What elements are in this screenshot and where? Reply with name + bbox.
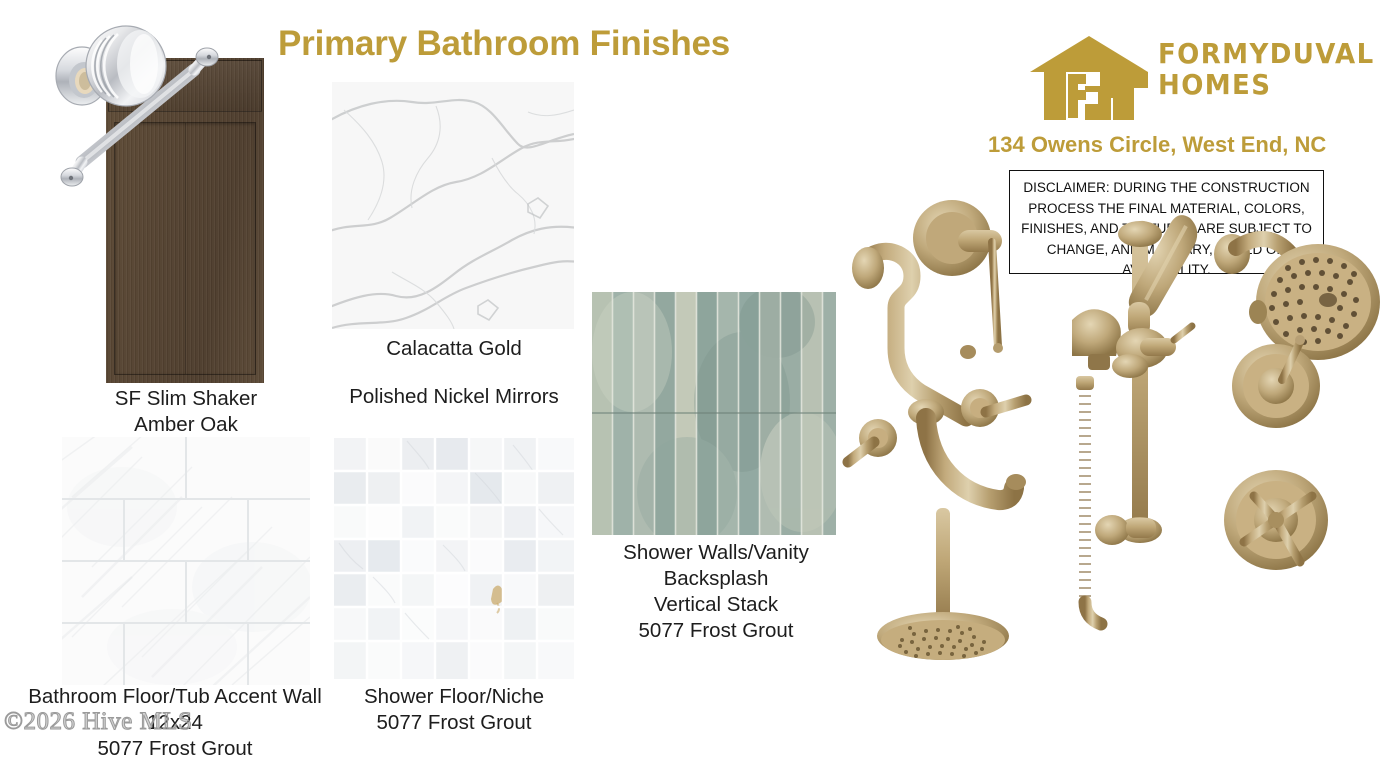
label-cabinet-line1: SF Slim Shaker [60, 386, 312, 412]
hand-shower-slide-bar [1095, 215, 1197, 545]
polished-nickel-hardware-icon [44, 24, 264, 224]
label-cabinet-line2: Amber Oak [60, 412, 312, 438]
label-quartz: Calacatta Gold [330, 336, 578, 362]
label-green-line1: Shower Walls/Vanity [592, 540, 840, 566]
label-mirrors: Polished Nickel Mirrors [322, 384, 586, 410]
label-floor-line1: Bathroom Floor/Tub Accent Wall [10, 684, 340, 710]
label-green-line3: Vertical Stack [592, 592, 840, 618]
wall-mount-tub-filler [848, 389, 1026, 500]
label-mosaic: Shower Floor/Niche 5077 Frost Grout [338, 684, 570, 736]
cross-handle-valve-trim [1224, 470, 1328, 570]
plumbing-fixtures-group [840, 190, 1380, 730]
label-mosaic-line1: Shower Floor/Niche [338, 684, 570, 710]
swatch-marble-mosaic [333, 437, 575, 680]
swatch-marble-floor-12x24 [62, 437, 310, 685]
label-green-line4: 5077 Frost Grout [592, 618, 840, 644]
label-mosaic-line2: 5077 Frost Grout [338, 710, 570, 736]
wall-mount-vanity-faucet [852, 200, 1003, 418]
brand-wordmark: FORMYDUVAL HOMES [1158, 38, 1380, 100]
swatch-green-vertical-stack-tile [592, 292, 836, 535]
wall-shower-elbow [1072, 309, 1121, 370]
label-cabinet-door: SF Slim Shaker Amber Oak [60, 386, 312, 438]
label-floor-line3: 5077 Frost Grout [10, 736, 340, 762]
brand-logo: FORMYDUVAL HOMES [1030, 34, 1370, 124]
page-title: Primary Bathroom Finishes [278, 24, 798, 64]
property-address: 134 Owens Circle, West End, NC [988, 132, 1380, 158]
formyduval-house-fh-icon [1030, 36, 1148, 120]
mls-watermark: ©2026 Hive MLS [4, 708, 193, 736]
label-green-tile: Shower Walls/Vanity Backsplash Vertical … [592, 540, 840, 644]
shower-hose [1076, 376, 1101, 624]
swatch-quartz-calacatta-gold [332, 82, 574, 329]
ceiling-rain-showerhead [877, 508, 1009, 660]
brand-name-line2: HOMES [1158, 69, 1380, 100]
label-green-line2: Backsplash [592, 566, 840, 592]
brand-name-line1: FORMYDUVAL [1158, 38, 1380, 69]
